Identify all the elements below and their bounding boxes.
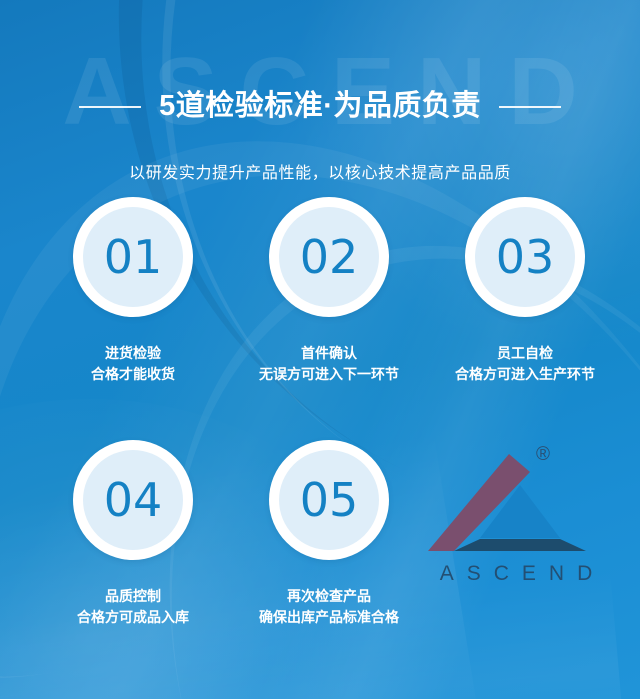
steps-row-top: 01 进货检验 合格才能收货 02 首件确认 无误方可进入下一环节 <box>0 197 640 385</box>
brand-logo: ® ASCEND <box>418 442 623 594</box>
page-subtitle: 以研发实力提升产品性能，以核心技术提高产品品质 <box>0 159 640 183</box>
title-left-rule <box>79 106 141 108</box>
step-caption-line1: 进货检验 <box>35 343 231 364</box>
step-caption: 进货检验 合格才能收货 <box>35 343 231 385</box>
step-item-01: 01 进货检验 合格才能收货 <box>35 197 231 385</box>
step-item-04: 04 品质控制 合格方可成品入库 <box>35 440 231 628</box>
step-item-03: 03 员工自检 合格方可进入生产环节 <box>427 197 623 385</box>
logo-wordmark: ASCEND <box>418 562 614 586</box>
ascend-mark-icon <box>418 442 623 562</box>
step-circle: 04 <box>73 440 193 560</box>
header: 5道检验标准·为品质负责 以研发实力提升产品性能，以核心技术提高产品品质 <box>0 0 640 183</box>
step-caption-line1: 员工自检 <box>427 343 623 364</box>
registered-trademark-icon: ® <box>536 445 550 464</box>
logo-navy-base-shape <box>454 539 586 551</box>
step-caption: 首件确认 无误方可进入下一环节 <box>231 343 427 385</box>
step-circle-inner: 05 <box>279 450 379 550</box>
step-item-02: 02 首件确认 无误方可进入下一环节 <box>231 197 427 385</box>
step-caption-line1: 品质控制 <box>35 586 231 607</box>
step-caption: 员工自检 合格方可进入生产环节 <box>427 343 623 385</box>
step-caption: 品质控制 合格方可成品入库 <box>35 586 231 628</box>
step-number: 02 <box>300 234 359 280</box>
title-row: 5道检验标准·为品质负责 <box>0 72 640 143</box>
page-title: 5道检验标准·为品质负责 <box>159 91 481 123</box>
step-circle: 02 <box>269 197 389 317</box>
step-caption-line1: 首件确认 <box>231 343 427 364</box>
step-circle: 03 <box>465 197 585 317</box>
promo-poster: ASCEND 5道检验标准·为品质负责 以研发实力提升产品性能，以核心技术提高产… <box>0 0 640 699</box>
step-circle: 01 <box>73 197 193 317</box>
step-caption-line2: 合格才能收货 <box>35 364 231 385</box>
step-caption: 再次检查产品 确保出库产品标准合格 <box>231 586 427 628</box>
step-circle-inner: 04 <box>83 450 183 550</box>
title-right-rule <box>499 106 561 108</box>
step-circle: 05 <box>269 440 389 560</box>
step-number: 03 <box>496 234 555 280</box>
step-caption-line2: 无误方可进入下一环节 <box>231 364 427 385</box>
step-caption-line1: 再次检查产品 <box>231 586 427 607</box>
step-number: 04 <box>104 477 163 523</box>
step-circle-inner: 02 <box>279 207 379 307</box>
step-number: 01 <box>104 234 163 280</box>
step-number: 05 <box>300 477 359 523</box>
step-caption-line2: 合格方可进入生产环节 <box>427 364 623 385</box>
step-circle-inner: 01 <box>83 207 183 307</box>
step-caption-line2: 合格方可成品入库 <box>35 607 231 628</box>
step-item-05: 05 再次检查产品 确保出库产品标准合格 <box>231 440 427 628</box>
step-circle-inner: 03 <box>475 207 575 307</box>
step-caption-line2: 确保出库产品标准合格 <box>231 607 427 628</box>
